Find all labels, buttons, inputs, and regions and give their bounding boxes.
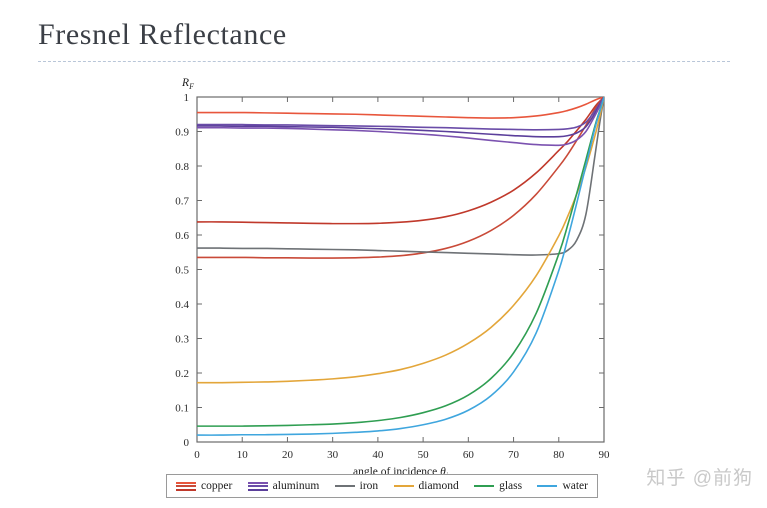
page-title: Fresnel Reflectance bbox=[38, 18, 287, 52]
x-tick-label: 90 bbox=[599, 449, 611, 461]
x-tick-label: 70 bbox=[508, 449, 520, 461]
x-tick-label: 80 bbox=[553, 449, 565, 461]
legend-label-aluminum: aluminum bbox=[273, 480, 320, 492]
legend-swatch-glass-icon bbox=[474, 481, 494, 492]
x-tick-label: 60 bbox=[463, 449, 475, 461]
legend-label-diamond: diamond bbox=[419, 480, 459, 492]
legend-item-diamond[interactable]: diamond bbox=[394, 480, 459, 492]
y-tick-label: 1 bbox=[184, 92, 190, 104]
fresnel-reflectance-chart: 00.10.20.30.40.50.60.70.80.9101020304050… bbox=[140, 66, 620, 506]
y-tick-label: 0.3 bbox=[175, 334, 189, 346]
y-tick-label: 0 bbox=[184, 437, 190, 449]
legend-item-copper[interactable]: copper bbox=[176, 480, 232, 492]
legend-swatch-aluminum-icon bbox=[248, 481, 268, 492]
chart-svg: 00.10.20.30.40.50.60.70.80.9101020304050… bbox=[140, 66, 620, 506]
y-tick-label: 0.8 bbox=[175, 161, 189, 173]
y-axis-label: RF bbox=[181, 77, 194, 91]
legend-item-glass[interactable]: glass bbox=[474, 480, 522, 492]
x-tick-label: 30 bbox=[327, 449, 339, 461]
y-tick-label: 0.5 bbox=[175, 265, 189, 277]
legend-label-glass: glass bbox=[499, 480, 522, 492]
y-tick-label: 0.7 bbox=[175, 196, 189, 208]
x-tick-label: 10 bbox=[237, 449, 249, 461]
x-tick-label: 40 bbox=[372, 449, 384, 461]
y-tick-label: 0.9 bbox=[175, 127, 189, 139]
x-tick-label: 0 bbox=[194, 449, 200, 461]
legend-label-water: water bbox=[562, 480, 588, 492]
x-tick-label: 20 bbox=[282, 449, 294, 461]
legend-label-iron: iron bbox=[360, 480, 379, 492]
y-tick-label: 0.2 bbox=[175, 368, 189, 380]
y-tick-label: 0.6 bbox=[175, 230, 189, 242]
chart-legend: copperaluminumirondiamondglasswater bbox=[166, 474, 598, 498]
legend-swatch-diamond-icon bbox=[394, 481, 414, 492]
x-tick-label: 50 bbox=[418, 449, 430, 461]
plot-frame bbox=[197, 97, 604, 442]
y-tick-label: 0.1 bbox=[175, 403, 189, 415]
watermark-text: 知乎 @前狗 bbox=[646, 463, 753, 490]
y-tick-label: 0.4 bbox=[175, 299, 189, 311]
legend-swatch-copper-icon bbox=[176, 481, 196, 492]
legend-swatch-iron-icon bbox=[335, 481, 355, 492]
legend-item-water[interactable]: water bbox=[537, 480, 588, 492]
legend-item-aluminum[interactable]: aluminum bbox=[248, 480, 320, 492]
legend-label-copper: copper bbox=[201, 480, 232, 492]
title-divider bbox=[38, 61, 730, 62]
legend-swatch-water-icon bbox=[537, 481, 557, 492]
slide-canvas: Fresnel Reflectance 00.10.20.30.40.50.60… bbox=[0, 0, 767, 508]
legend-item-iron[interactable]: iron bbox=[335, 480, 379, 492]
